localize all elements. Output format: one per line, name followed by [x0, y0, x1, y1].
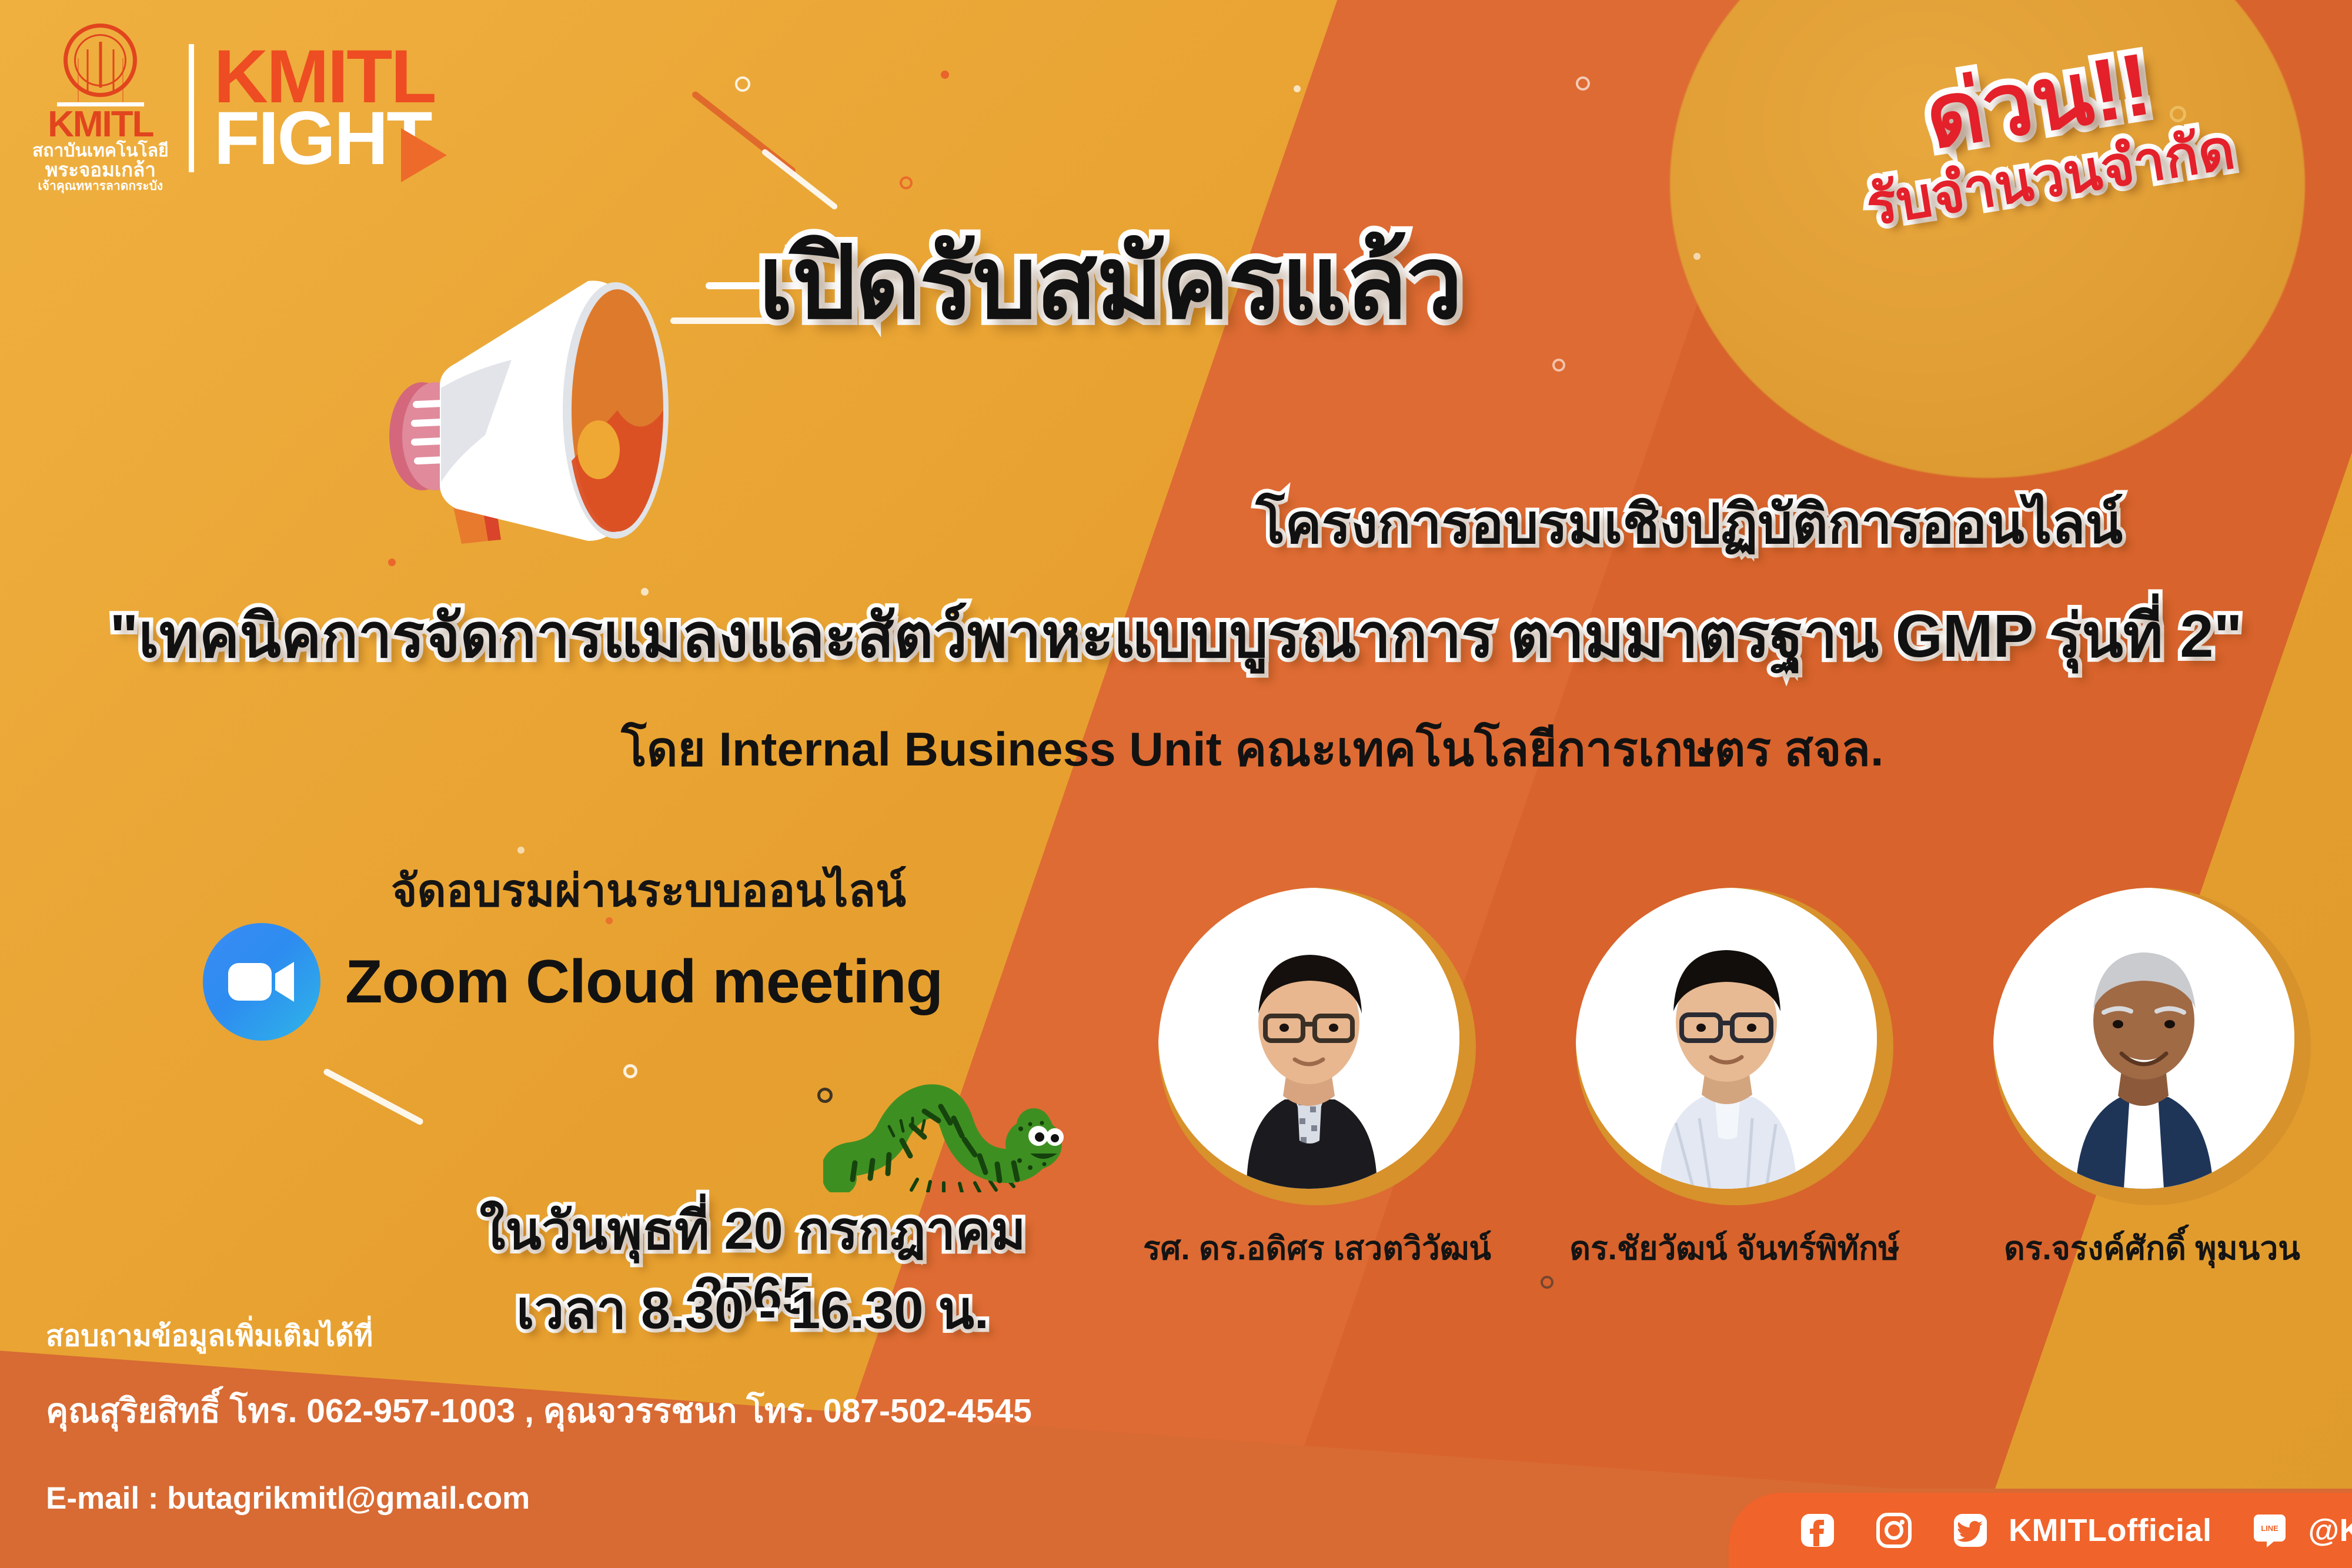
kmitl-logo: KMITL สถาบันเทคโนโลยี พระจอมเกล้า เจ้าคุ…	[32, 24, 435, 193]
logo-thai-line3: เจ้าคุณทหารลาดกระบัง	[38, 180, 163, 193]
speaker-card: รศ. ดร.อดิศร เสวตวิวัฒน์	[1152, 888, 1482, 1274]
decor-dot	[388, 559, 396, 566]
speaker-photo-ring	[1158, 888, 1476, 1205]
instagram-icon[interactable]	[1876, 1512, 1912, 1549]
speaker-name: รศ. ดร.อดิศร เสวตวิวัฒน์	[1143, 1223, 1491, 1274]
logo-kmitl-small: KMITL	[48, 108, 153, 142]
facebook-icon[interactable]	[1799, 1512, 1836, 1549]
line-handle[interactable]: @KMITL	[2308, 1512, 2352, 1549]
decor-dot	[517, 847, 524, 854]
decor-dot	[941, 71, 949, 79]
program-subheading: โครงการอบรมเชิงปฏิบัติการออนไลน์	[1256, 497, 2123, 551]
program-main-title: "เทคนิคการจัดการแมลงและสัตว์พาหะแบบบูรณา…	[0, 606, 2352, 666]
logo-thai-line2: พระจอมเกล้า	[45, 160, 156, 180]
decor-ring	[1552, 359, 1565, 372]
twitter-icon[interactable]	[1952, 1512, 1989, 1549]
logo-brand-bottom-text: FIGHT	[214, 96, 431, 180]
decor-ring	[900, 176, 913, 189]
megaphone-icon	[353, 247, 788, 553]
decor-ring	[1576, 76, 1590, 91]
event-time: เวลา 8.30 - 16.30 น.	[423, 1279, 1082, 1343]
speaker-name: ดร.ชัยวัฒน์ จันทร์พิทักษ์	[1569, 1223, 1899, 1274]
social-bar: KMITLofficial LINE @KMITL	[1729, 1493, 2352, 1568]
contact-heading: สอบถามข้อมูลเพิ่มเติมได้ที่	[46, 1313, 373, 1359]
kmitl-fight-wordmark: KMITL FIGHT	[214, 46, 435, 170]
page-headline: เปิดรับสมัครแล้ว	[759, 232, 1462, 333]
speaker-card: ดร.ชัยวัฒน์ จันทร์พิทักษ์	[1570, 888, 1899, 1274]
contact-email: E-mail : butagrikmitl@gmail.com	[46, 1480, 530, 1516]
decor-ring	[1541, 1276, 1553, 1289]
logo-brand-bottom: FIGHT	[214, 108, 435, 170]
speaker-card: ดร.จรงค์ศักดิ์ พุมนวน	[1987, 888, 2317, 1274]
speaker-photo-1	[1158, 888, 1459, 1189]
zoom-platform-label: Zoom Cloud meeting	[345, 947, 943, 1017]
zoom-platform-row: Zoom Cloud meeting	[203, 923, 943, 1041]
decor-dot	[1693, 253, 1700, 260]
svg-text:LINE: LINE	[2261, 1524, 2279, 1533]
speaker-photo-3	[1993, 888, 2294, 1189]
program-byline: โดย Internal Business Unit คณะเทคโนโลยีก…	[0, 726, 2352, 774]
play-triangle-icon	[401, 128, 447, 182]
decor-ring	[623, 1064, 637, 1078]
decor-dot	[1294, 85, 1301, 92]
logo-thai-line1: สถาบันเทคโนโลยี	[32, 142, 169, 161]
decor-ring	[735, 76, 750, 92]
twitter-handle[interactable]: KMITLofficial	[2009, 1512, 2211, 1549]
speaker-photo-2	[1576, 888, 1877, 1189]
zoom-video-camera-icon	[203, 923, 320, 1041]
contact-phones: คุณสุริยสิทธิ์ โทร. 062-957-1003 , คุณจว…	[46, 1385, 1032, 1437]
delivery-method-label: จัดอบรมผ่านระบบออนไลน์	[391, 855, 906, 926]
poster-root: KMITL สถาบันเทคโนโลยี พระจอมเกล้า เจ้าคุ…	[0, 0, 2352, 1568]
caterpillar-icon	[823, 1075, 1064, 1192]
speaker-name: ดร.จรงค์ศักดิ์ พุมนวน	[2004, 1223, 2300, 1274]
kmitl-seal-icon	[64, 24, 137, 97]
kmitl-logo-left: KMITL สถาบันเทคโนโลยี พระจอมเกล้า เจ้าคุ…	[32, 24, 169, 193]
speaker-photo-ring	[1576, 888, 1893, 1205]
line-icon[interactable]: LINE	[2251, 1512, 2288, 1549]
speaker-photo-ring	[1993, 888, 2311, 1205]
speakers-row: รศ. ดร.อดิศร เสวตวิวัฒน์	[1152, 888, 2317, 1274]
decor-dot	[641, 588, 649, 596]
logo-vertical-rule	[189, 44, 194, 172]
